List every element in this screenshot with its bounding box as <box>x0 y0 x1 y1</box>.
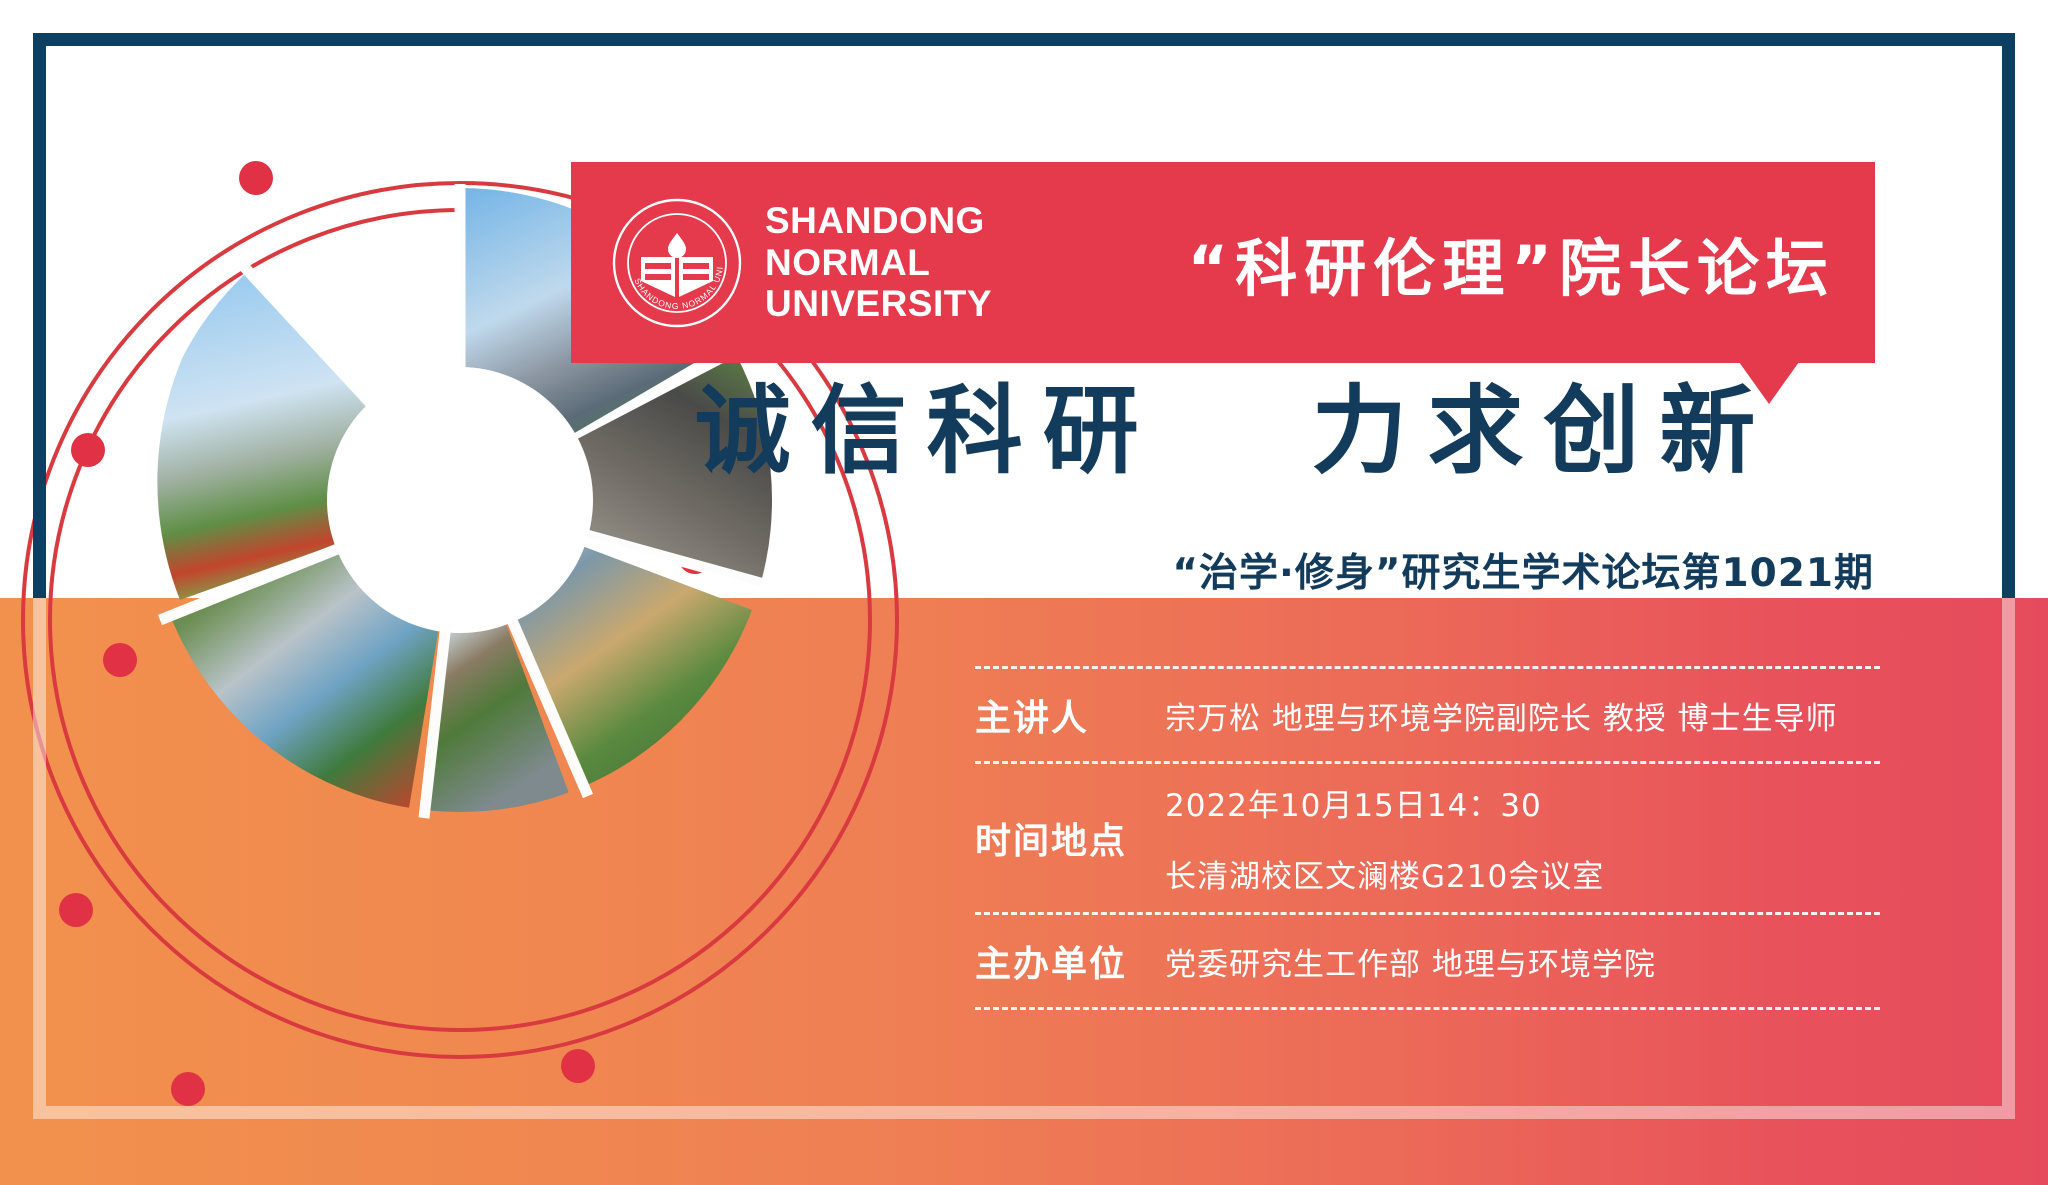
university-name: SHANDONG NORMAL UNIVERSITY <box>765 200 992 324</box>
header-banner: SHANDONG NORMAL UNIVERSITY SHANDONG NORM… <box>571 162 1875 363</box>
info-row-organizer: 主办单位 党委研究生工作部 地理与环境学院 <box>975 915 1880 1007</box>
info-value-time-place: 2022年10月15日14：30 长清湖校区文澜楼G210会议室 <box>1165 780 1880 896</box>
info-label-organizer: 主办单位 <box>975 935 1165 987</box>
university-name-line-3: UNIVERSITY <box>765 283 992 324</box>
banner-title: “科研伦理”院长论坛 <box>1188 218 1836 308</box>
info-value-organizer: 党委研究生工作部 地理与环境学院 <box>1165 939 1880 984</box>
info-value-time: 2022年10月15日14：30 <box>1165 780 1880 825</box>
university-name-line-2: NORMAL <box>765 242 992 283</box>
event-info-block: 主讲人 宗万松 地理与环境学院副院长 教授 博士生导师 时间地点 2022年10… <box>975 666 1880 1010</box>
page-title: 诚信科研 力求创新 <box>590 383 1880 479</box>
info-value-place: 长清湖校区文澜楼G210会议室 <box>1165 851 1880 896</box>
page-title-right: 力求创新 <box>1311 375 1775 487</box>
info-divider-bottom <box>975 1007 1880 1010</box>
info-label-speaker: 主讲人 <box>975 689 1165 741</box>
info-row-time-place: 时间地点 2022年10月15日14：30 长清湖校区文澜楼G210会议室 <box>975 764 1880 912</box>
info-label-time-place: 时间地点 <box>975 812 1165 864</box>
info-row-speaker: 主讲人 宗万松 地理与环境学院副院长 教授 博士生导师 <box>975 669 1880 761</box>
university-name-line-1: SHANDONG <box>765 200 992 241</box>
university-crest-icon: SHANDONG NORMAL UNIVERSITY <box>611 197 743 329</box>
info-value-organizer-line-1: 党委研究生工作部 地理与环境学院 <box>1165 939 1880 984</box>
info-value-speaker-line-1: 宗万松 地理与环境学院副院长 教授 博士生导师 <box>1165 693 1880 738</box>
page-title-left: 诚信科研 <box>695 375 1159 487</box>
poster-root: SHANDONG NORMAL UNIVERSITY SHANDONG NORM… <box>0 0 2048 1185</box>
page-subtitle: “治学·修身”研究生学术论坛第1021期 <box>590 542 1880 598</box>
info-value-speaker: 宗万松 地理与环境学院副院长 教授 博士生导师 <box>1165 693 1880 738</box>
